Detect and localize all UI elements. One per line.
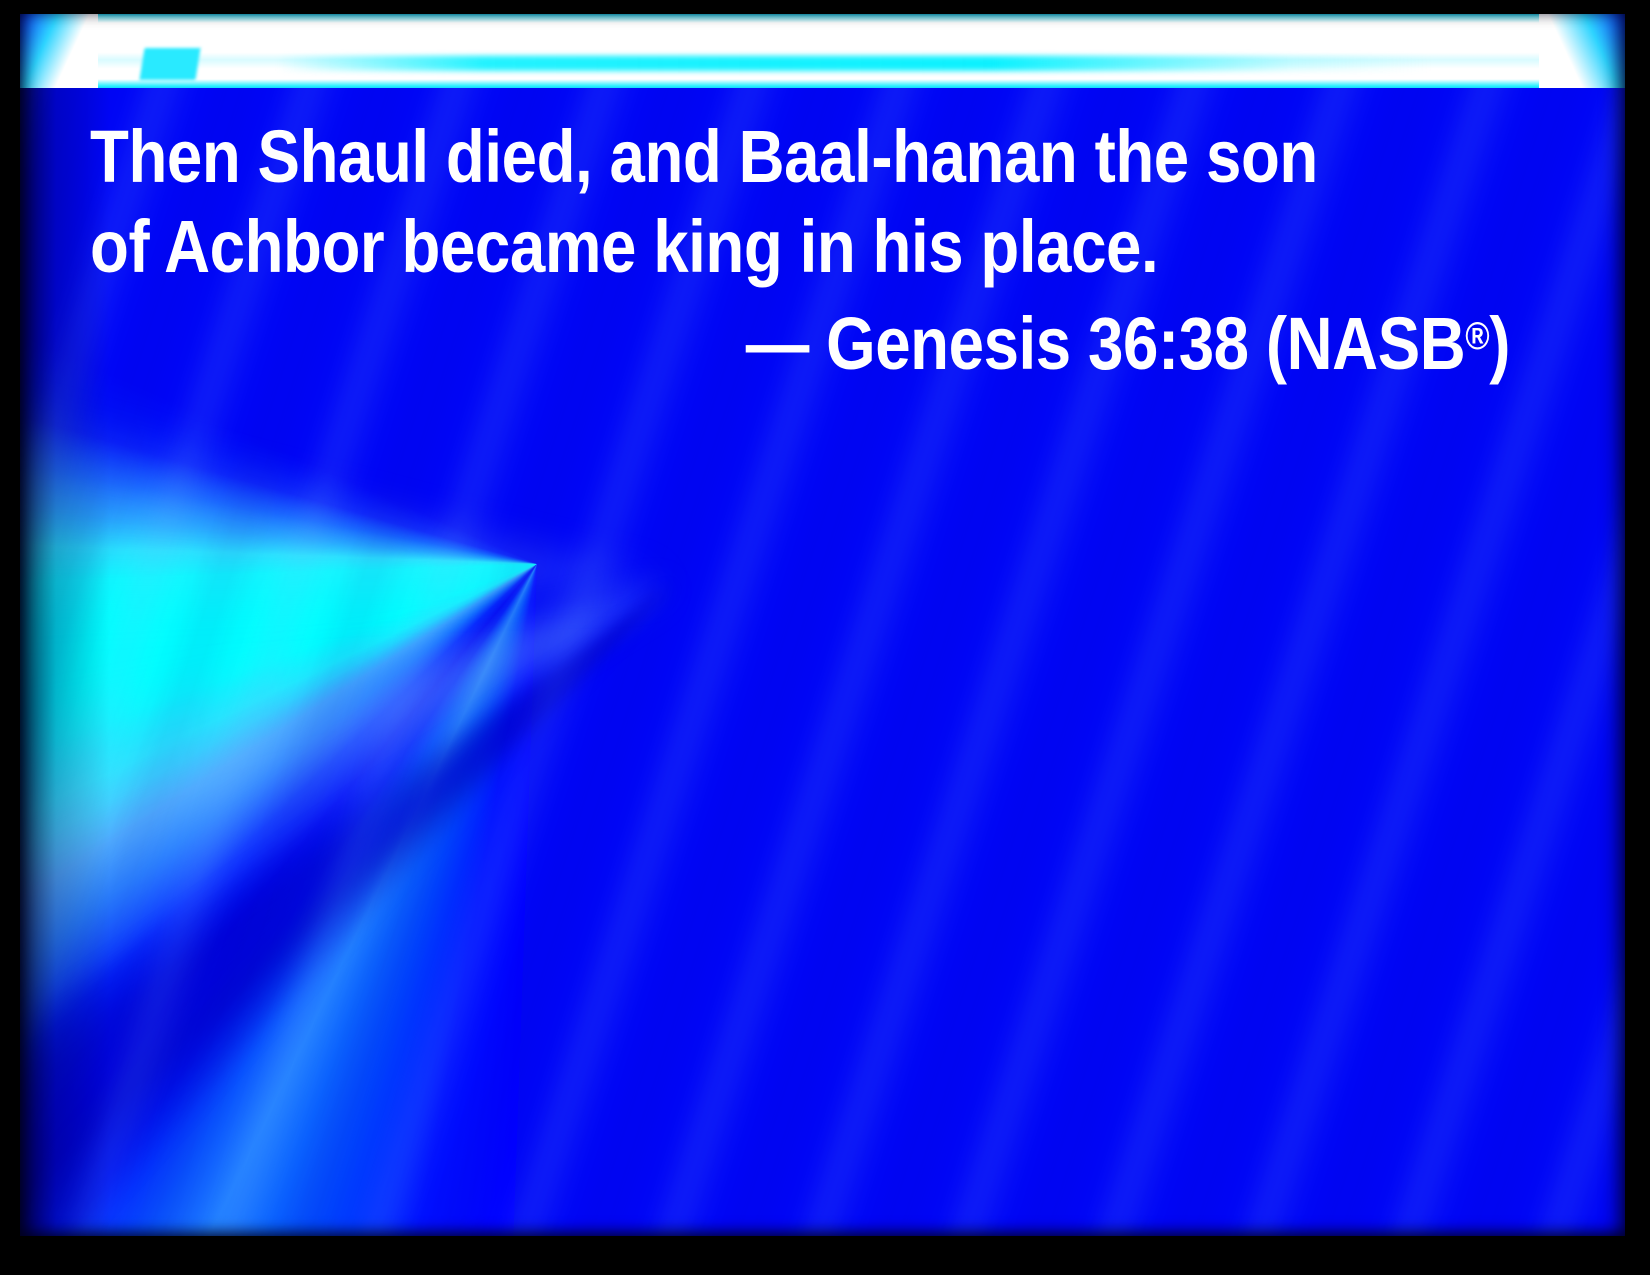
- top-white-band: [20, 14, 1625, 88]
- bible-verse-slide: Then Shaul died, and Baal-hanan the son …: [0, 0, 1650, 1275]
- frame-edge-top: [0, 0, 1650, 14]
- citation-dash: —: [746, 302, 809, 385]
- frame-edge-bottom: [0, 1236, 1650, 1275]
- frame-edge-right: [1625, 0, 1650, 1275]
- verse-citation: — Genesis 36:38 (NASB®): [289, 292, 1510, 389]
- verse-line-2: of Achbor became king in his place.: [90, 202, 1311, 292]
- frame-edge-left: [0, 0, 20, 1275]
- top-band-cyan-streak: [277, 56, 1433, 71]
- top-band-cyan-notch: [139, 48, 200, 80]
- registered-trademark-icon: ®: [1465, 315, 1489, 358]
- verse-line-1: Then Shaul died, and Baal-hanan the son: [90, 112, 1311, 202]
- citation-reference: Genesis 36:38: [826, 302, 1248, 385]
- citation-translation-close: ): [1489, 302, 1510, 385]
- verse-text-block: Then Shaul died, and Baal-hanan the son …: [90, 112, 1510, 389]
- citation-translation-open: (NASB: [1266, 302, 1465, 385]
